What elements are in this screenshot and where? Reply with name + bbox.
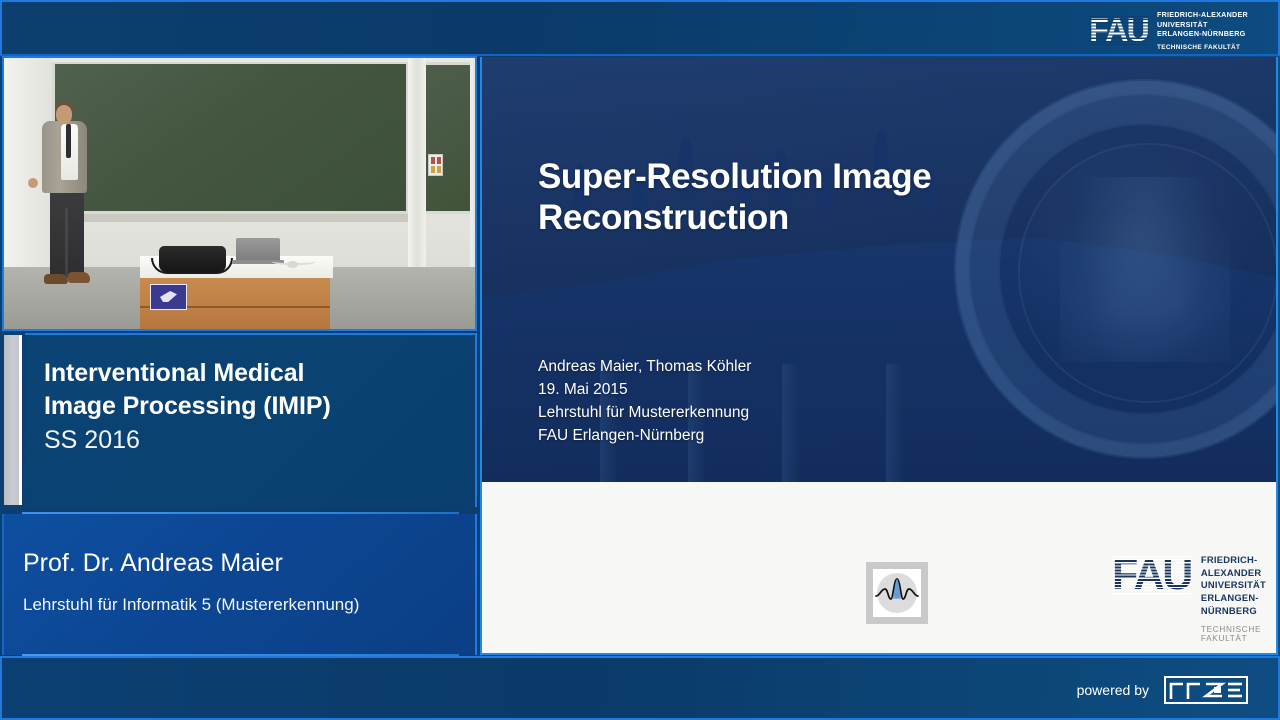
lecturer-department: Lehrstuhl für Informatik 5 (Mustererkenn… (23, 595, 475, 615)
presenter-leg-gap (65, 208, 68, 278)
fau-faculty-name: TECHNISCHE FAKULTÄT (1201, 625, 1276, 643)
fau-wordmark-text: FAU (1112, 554, 1191, 597)
rrze-logo (1164, 676, 1248, 704)
slide-fau-logo: FAU FRIEDRICH-ALEXANDER UNIVERSITÄT ERLA… (1112, 554, 1276, 643)
footer-bar: powered by (0, 656, 1280, 720)
course-title-panel: Interventional Medical Image Processing … (25, 333, 477, 507)
fau-university-name: FRIEDRICH-ALEXANDER UNIVERSITÄT ERLANGEN… (1157, 10, 1248, 39)
pillar-left (408, 58, 426, 290)
bag (159, 246, 226, 272)
chalkboard-ledge (52, 214, 409, 222)
header-bar: FAU FRIEDRICH-ALEXANDER UNIVERSITÄT ERLA… (0, 0, 1280, 56)
lecturer-name: Prof. Dr. Andreas Maier (23, 548, 475, 578)
slide-title: Super-Resolution Image Reconstruction (538, 157, 1018, 239)
switch-plate (428, 154, 443, 176)
presenter-shoe-left (44, 274, 68, 284)
slide-title-line2: Reconstruction (538, 198, 1018, 239)
presenter-head (56, 105, 72, 124)
header-fau-logo: FAU FRIEDRICH-ALEXANDER UNIVERSITÄT ERLA… (1089, 10, 1248, 51)
slide-footer-area: FAU FRIEDRICH-ALEXANDER UNIVERSITÄT ERLA… (482, 482, 1276, 653)
course-title-block: Interventional Medical Image Processing … (2, 333, 477, 510)
powered-by-label: powered by (1077, 682, 1149, 698)
fau-wordmark: FAU (1112, 554, 1191, 597)
presenter-tie (66, 124, 71, 158)
rrze-glyph (1166, 678, 1246, 702)
app-frame: FAU FRIEDRICH-ALEXANDER UNIVERSITÄT ERLA… (0, 0, 1280, 720)
desk-sign (150, 284, 187, 310)
slide-authors-block: Andreas Maier, Thomas Köhler 19. Mai 201… (538, 355, 751, 447)
fau-university-name: FRIEDRICH-ALEXANDER UNIVERSITÄT ERLANGEN… (1201, 554, 1276, 617)
fau-wordmark: FAU (1089, 14, 1148, 46)
chalkboard (52, 62, 409, 214)
chalkboard-right (422, 62, 477, 214)
powered-by-block: powered by (1077, 676, 1248, 704)
facade-column (886, 364, 903, 482)
video-scene (4, 58, 475, 329)
slide-title-line1: Super-Resolution Image (538, 157, 1018, 198)
lecture-video-thumbnail[interactable] (2, 56, 477, 331)
slide-preview[interactable]: Super-Resolution Image Reconstruction An… (480, 57, 1278, 655)
course-term: SS 2016 (44, 425, 475, 457)
fau-wordmark-text: FAU (1089, 14, 1148, 46)
facade-column (782, 364, 799, 482)
pattern-recognition-lab-logo (866, 562, 928, 624)
fau-faculty-name: TECHNISCHE FAKULTÄT (1157, 44, 1248, 51)
presenter-shoe-right (68, 272, 90, 283)
presenter-hand (28, 178, 38, 188)
left-column: Interventional Medical Image Processing … (0, 56, 479, 656)
lecturer-block: Prof. Dr. Andreas Maier Lehrstuhl für In… (2, 514, 477, 655)
course-title-line2: Image Processing (IMIP) (44, 390, 475, 423)
accent-bar (4, 335, 22, 505)
course-title-line1: Interventional Medical (44, 357, 475, 390)
pillar-right (470, 58, 477, 290)
slide-header-area: Super-Resolution Image Reconstruction An… (482, 57, 1276, 482)
prl-waveform-icon (873, 569, 921, 617)
mouse (287, 261, 298, 268)
